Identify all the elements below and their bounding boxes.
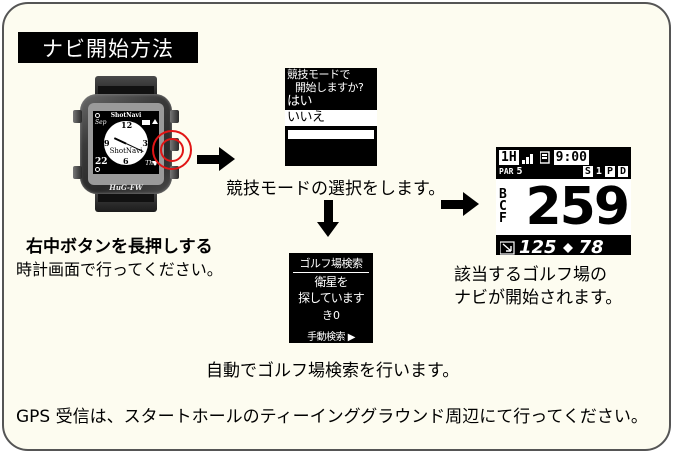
chevron-up-icon <box>152 119 158 124</box>
analog-dial: 12 3 6 9 ShotNavi <box>104 121 148 165</box>
search-line-2: 探しています <box>289 291 373 305</box>
arrow-right-icon-1 <box>197 147 235 171</box>
screen-course-search: ゴルフ場検索 衛星を 探しています き0 手動検索 ▶ <box>289 253 373 343</box>
par-label: PAR <box>499 167 513 176</box>
badge-d: D <box>618 166 628 177</box>
button-left-bottom[interactable] <box>73 166 82 179</box>
caption-gps-notice: GPS 受信は、スタートホールのティーインググラウンド周辺にて行ってください。 <box>16 402 648 427</box>
front-distance: 125 <box>519 237 557 258</box>
dial-brand: ShotNavi <box>104 147 148 155</box>
screen-competition-confirm: 競技モードで 開始しますか? はい いいえ <box>285 68 377 166</box>
lcd-dot-topleft <box>95 113 100 118</box>
badge-p: P <box>605 166 615 177</box>
button-highlight-inner-icon <box>160 138 184 162</box>
caption-auto-search: 自動でゴルフ場検索を行います。 <box>206 356 459 381</box>
button-left-top[interactable] <box>73 110 82 123</box>
yardage-status-bar: 1H 9:00 <box>496 147 631 165</box>
dial-number-12: 12 <box>121 120 132 130</box>
caption-press-button: 右中ボタンを長押しする <box>26 232 213 257</box>
page-title: ナビ開始方法 <box>42 33 174 63</box>
screen-yardage: 1H 9:00 PAR 5 S 1 P D B C <box>496 147 631 255</box>
lcd-date: 22 <box>95 157 108 167</box>
signal-icon <box>522 152 537 164</box>
caption-nav-start-line2: ナビが開始されます。 <box>454 283 622 308</box>
hazard-distance: 78 <box>579 237 604 258</box>
lcd-month: Sep <box>95 119 107 126</box>
yardage-markers: B C F <box>499 189 507 225</box>
arrow-down-icon <box>317 200 339 237</box>
button-right-top[interactable] <box>170 110 179 123</box>
watch-strap-bottom-inner <box>98 193 154 202</box>
caption-nav-start-line1: 該当するゴルフ場の <box>454 260 607 285</box>
distance-value: 259 <box>507 182 628 232</box>
watch-lcd-clock: ShotNavi Sep 22 Thu 12 3 6 9 <box>93 111 159 174</box>
caption-mode-select: 競技モードの選択をします。 <box>226 174 445 199</box>
marker-f: F <box>499 213 507 225</box>
badge-s: S <box>583 166 593 177</box>
dial-number-6: 6 <box>123 156 129 166</box>
par-value: 5 <box>516 166 522 177</box>
confirm-option-yes[interactable]: はい <box>285 94 377 110</box>
arrow-icon <box>500 241 515 255</box>
page-title-banner: ナビ開始方法 <box>18 32 198 63</box>
caption-press-button-sub: 時計画面で行ってください。 <box>16 256 223 280</box>
confirm-softkey-bar <box>288 130 374 139</box>
search-manual-footer[interactable]: 手動検索 ▶ <box>289 328 373 343</box>
confirm-line-1: 競技モードで <box>285 68 377 81</box>
watch-illustration: ShotNavi Sep 22 Thu 12 3 6 9 <box>64 76 188 212</box>
hazard-icon <box>561 241 575 255</box>
hole-number: 1H <box>499 150 519 165</box>
search-satellite-count: き0 <box>289 307 373 323</box>
confirm-option-no[interactable]: いいえ <box>285 110 377 126</box>
search-line-1: 衛星を <box>289 275 373 289</box>
confirm-line-2: 開始しますか? <box>285 81 377 94</box>
manual-page: ナビ開始方法 ShotNavi Sep 22 <box>2 2 671 451</box>
search-title: ゴルフ場検索 <box>293 255 369 273</box>
yardage-secondary-row: 125 78 <box>496 235 631 260</box>
lcd-brand: ShotNavi <box>93 112 159 119</box>
battery-icon <box>540 151 551 164</box>
badge-1: 1 <box>596 166 602 177</box>
hour-hand <box>114 137 126 144</box>
watch-model-label: HuG-FW <box>80 183 172 192</box>
arrow-right-icon-2 <box>441 192 479 216</box>
current-time: 9:00 <box>554 150 589 165</box>
battery-icon <box>142 120 150 125</box>
yardage-main: B C F 259 <box>496 179 631 235</box>
lcd-dot-bottomleft <box>95 167 100 172</box>
